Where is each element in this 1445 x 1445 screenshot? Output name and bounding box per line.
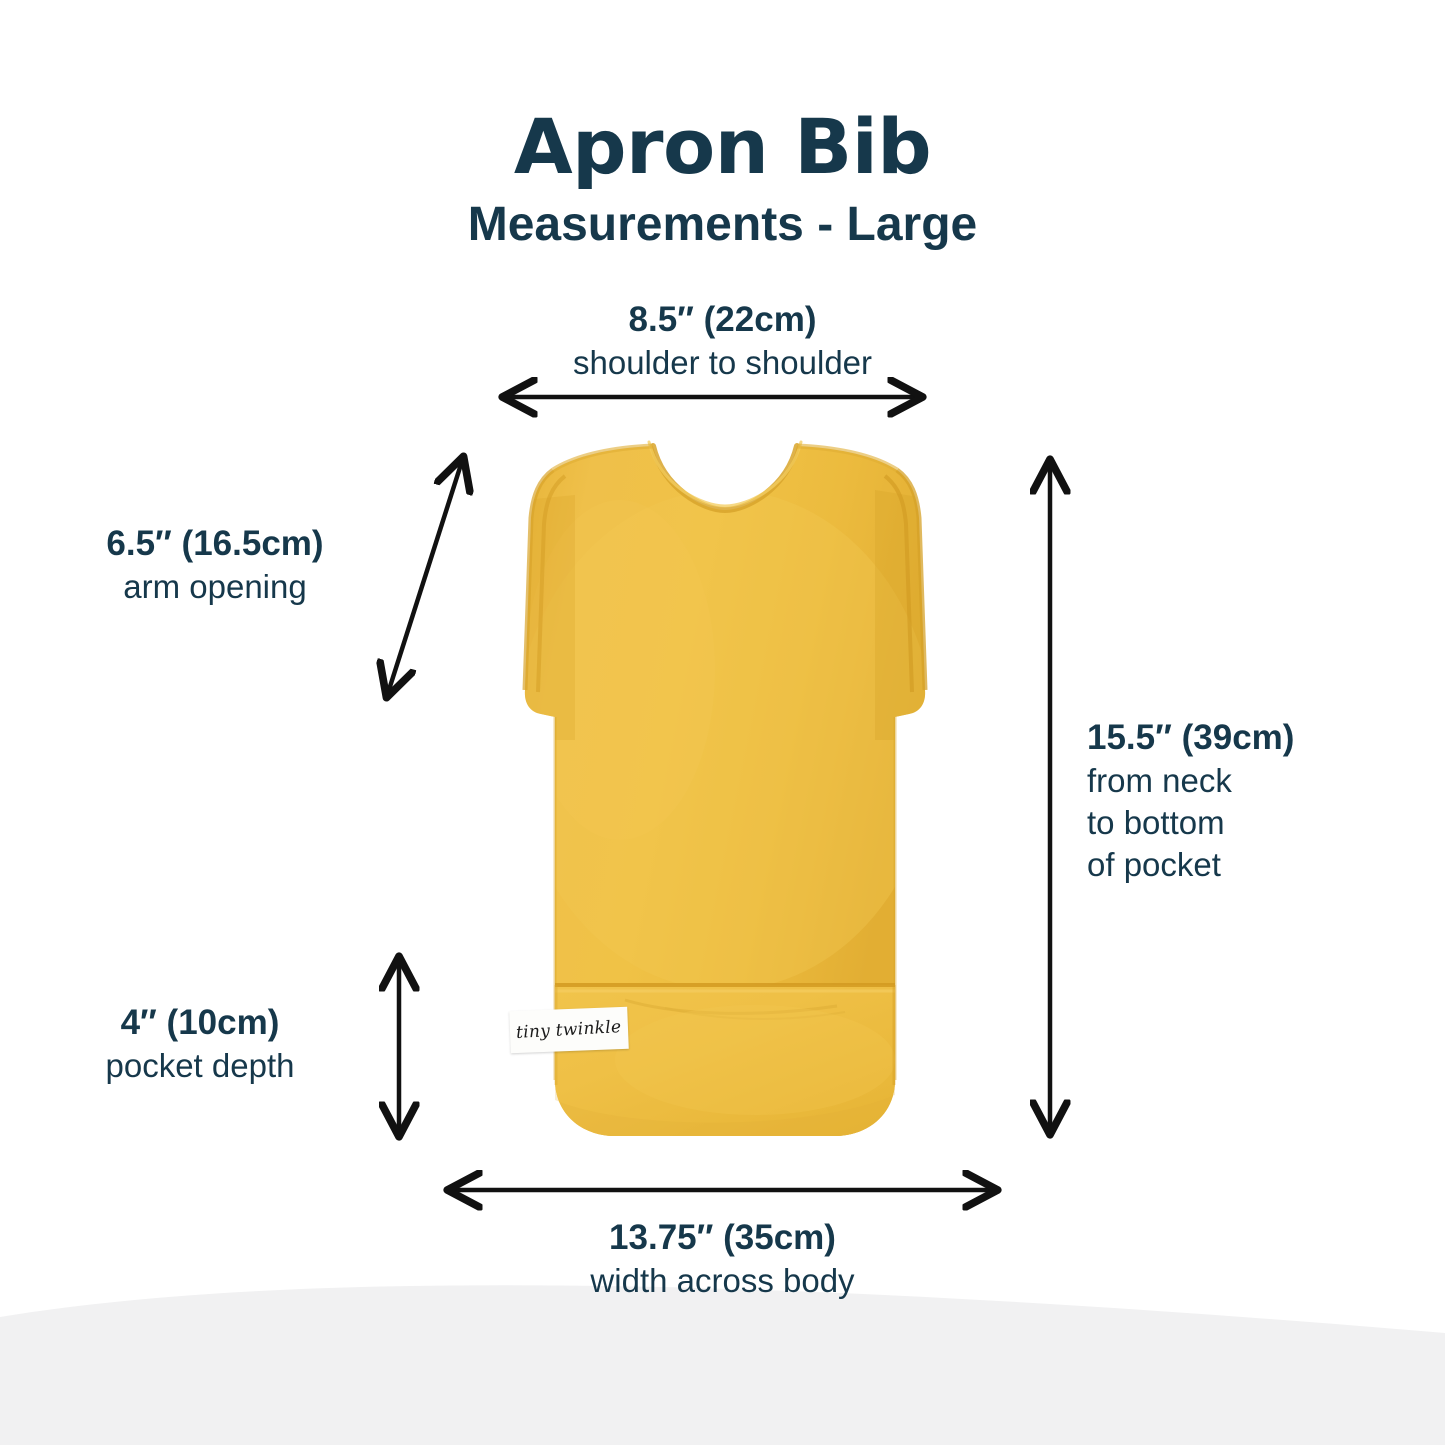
measurement-value: 13.75″ (35cm) bbox=[0, 1215, 1445, 1260]
measurement-value: 15.5″ (39cm) bbox=[1087, 715, 1417, 760]
measurement-description: shoulder to shoulder bbox=[0, 342, 1445, 384]
measurement-arm-opening: 6.5″ (16.5cm) arm opening bbox=[40, 521, 390, 608]
measurement-width-across-body: 13.75″ (35cm) width across body bbox=[0, 1215, 1445, 1302]
header-block: Apron Bib Measurements - Large bbox=[0, 104, 1445, 254]
measurement-value: 4″ (10cm) bbox=[30, 1000, 370, 1045]
measurement-shoulder-to-shoulder: 8.5″ (22cm) shoulder to shoulder bbox=[0, 297, 1445, 384]
page-title: Apron Bib bbox=[0, 104, 1445, 190]
measurement-value: 8.5″ (22cm) bbox=[0, 297, 1445, 342]
measurement-pocket-depth: 4″ (10cm) pocket depth bbox=[30, 1000, 370, 1087]
measurement-value: 6.5″ (16.5cm) bbox=[40, 521, 390, 566]
measurement-description: pocket depth bbox=[30, 1045, 370, 1087]
measurement-diagram-page: Apron Bib Measurements - Large bbox=[0, 0, 1445, 1445]
measurement-description-line-1: from neck bbox=[1087, 760, 1417, 802]
measurement-description: arm opening bbox=[40, 566, 390, 608]
measurement-description-line-2: to bottom bbox=[1087, 802, 1417, 844]
brand-tag: tiny twinkle bbox=[509, 1007, 629, 1053]
measurement-neck-to-pocket: 15.5″ (39cm) from neck to bottom of pock… bbox=[1087, 715, 1417, 886]
measurement-description: width across body bbox=[0, 1260, 1445, 1302]
brand-tag-label: tiny twinkle bbox=[516, 1017, 622, 1043]
measurement-description-line-3: of pocket bbox=[1087, 844, 1417, 886]
page-subtitle: Measurements - Large bbox=[0, 196, 1445, 254]
